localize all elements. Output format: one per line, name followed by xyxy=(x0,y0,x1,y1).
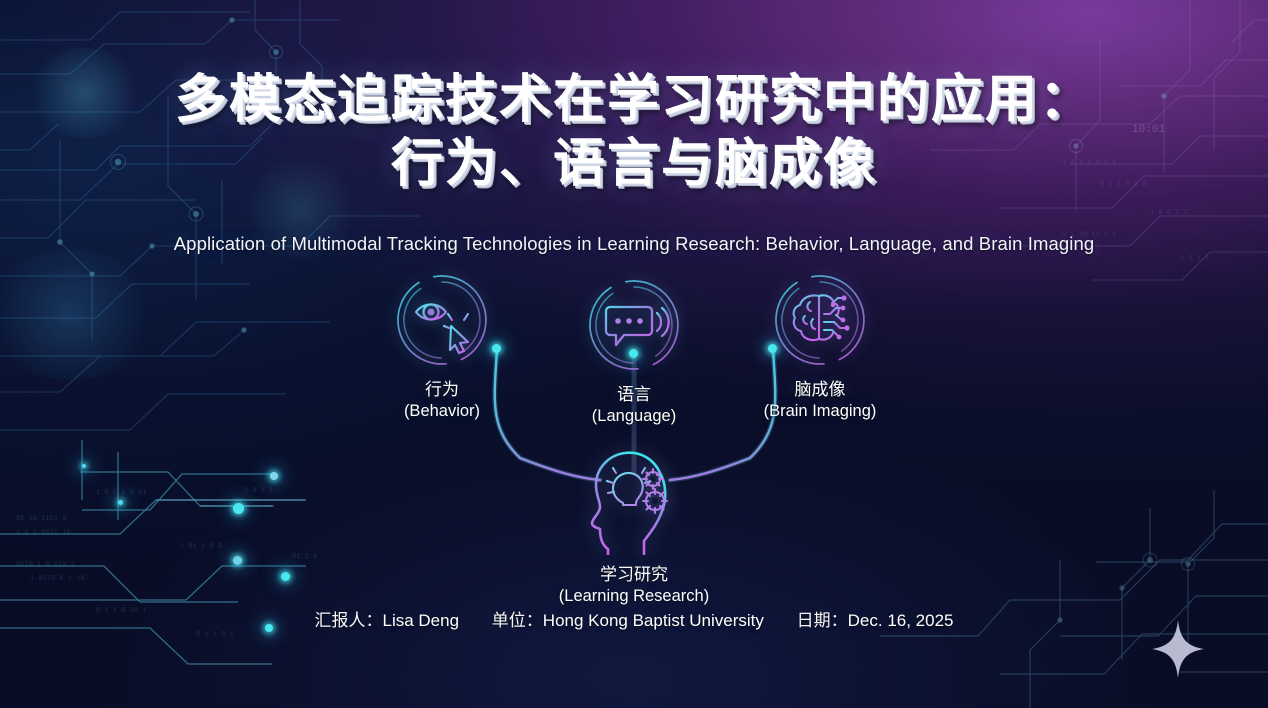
node-label-en-behavior: (Behavior) xyxy=(362,401,522,423)
diagram-node-learning-research[interactable]: 学习研究 (Learning Research) xyxy=(554,447,714,607)
sparkle-star-icon xyxy=(1150,618,1206,680)
eye-cursor-icon xyxy=(394,272,490,368)
footer-affiliation: 单位：Hong Kong Baptist University xyxy=(492,606,764,631)
speech-bubble-icon xyxy=(586,277,682,373)
diagram-node-behavior[interactable]: 行为 (Behavior) xyxy=(362,272,522,422)
page-title-line-1: 多模态追踪技术在学习研究中的应用： xyxy=(0,68,1268,132)
svg-text:1 0 1 1: 1 0 1 1 xyxy=(1180,255,1209,263)
diagram-node-language[interactable]: 语言 (Language) xyxy=(554,277,714,427)
footer-date: 日期：Dec. 16, 2025 xyxy=(797,606,954,631)
node-label-zh-brain-imaging: 脑成像 xyxy=(740,379,900,401)
svg-text:0 1 1 0 1: 0 1 1 0 1 xyxy=(196,631,234,639)
footer-credits: 汇报人：Lisa Deng 单位：Hong Kong Baptist Unive… xyxy=(0,606,1268,631)
footer-affiliation-value: Hong Kong Baptist University xyxy=(543,611,764,630)
node-label-zh-behavior: 行为 xyxy=(362,379,522,401)
concept-diagram: 行为 (Behavior) xyxy=(0,272,1268,602)
node-label-en-learning-research: (Learning Research) xyxy=(554,586,714,608)
diagram-node-brain-imaging[interactable]: 脑成像 (Brain Imaging) xyxy=(740,272,900,422)
node-label-en-language: (Language) xyxy=(554,406,714,428)
presentation-slide: 01 10 1101 0 1 0 1 0011 10 0110 1 0 110 … xyxy=(0,0,1268,708)
svg-text:1 0 0 1 1: 1 0 0 1 1 xyxy=(1150,209,1188,217)
title-block: 多模态追踪技术在学习研究中的应用： 行为、语言与脑成像 xyxy=(0,68,1268,196)
node-label-en-brain-imaging: (Brain Imaging) xyxy=(740,401,900,423)
head-lightbulb-gears-icon xyxy=(578,447,690,555)
footer-presenter: 汇报人：Lisa Deng xyxy=(315,606,460,631)
footer-presenter-label: 汇报人： xyxy=(315,611,383,630)
node-label-zh-language: 语言 xyxy=(554,384,714,406)
footer-presenter-value: Lisa Deng xyxy=(383,611,460,630)
page-subtitle: Application of Multimodal Tracking Techn… xyxy=(0,233,1268,255)
footer-date-label: 日期： xyxy=(797,611,848,630)
footer-affiliation-label: 单位： xyxy=(492,611,543,630)
node-label-zh-learning-research: 学习研究 xyxy=(554,564,714,586)
footer-date-value: Dec. 16, 2025 xyxy=(848,611,954,630)
brain-circuit-icon xyxy=(772,272,868,368)
page-title-line-2: 行为、语言与脑成像 xyxy=(0,132,1268,196)
